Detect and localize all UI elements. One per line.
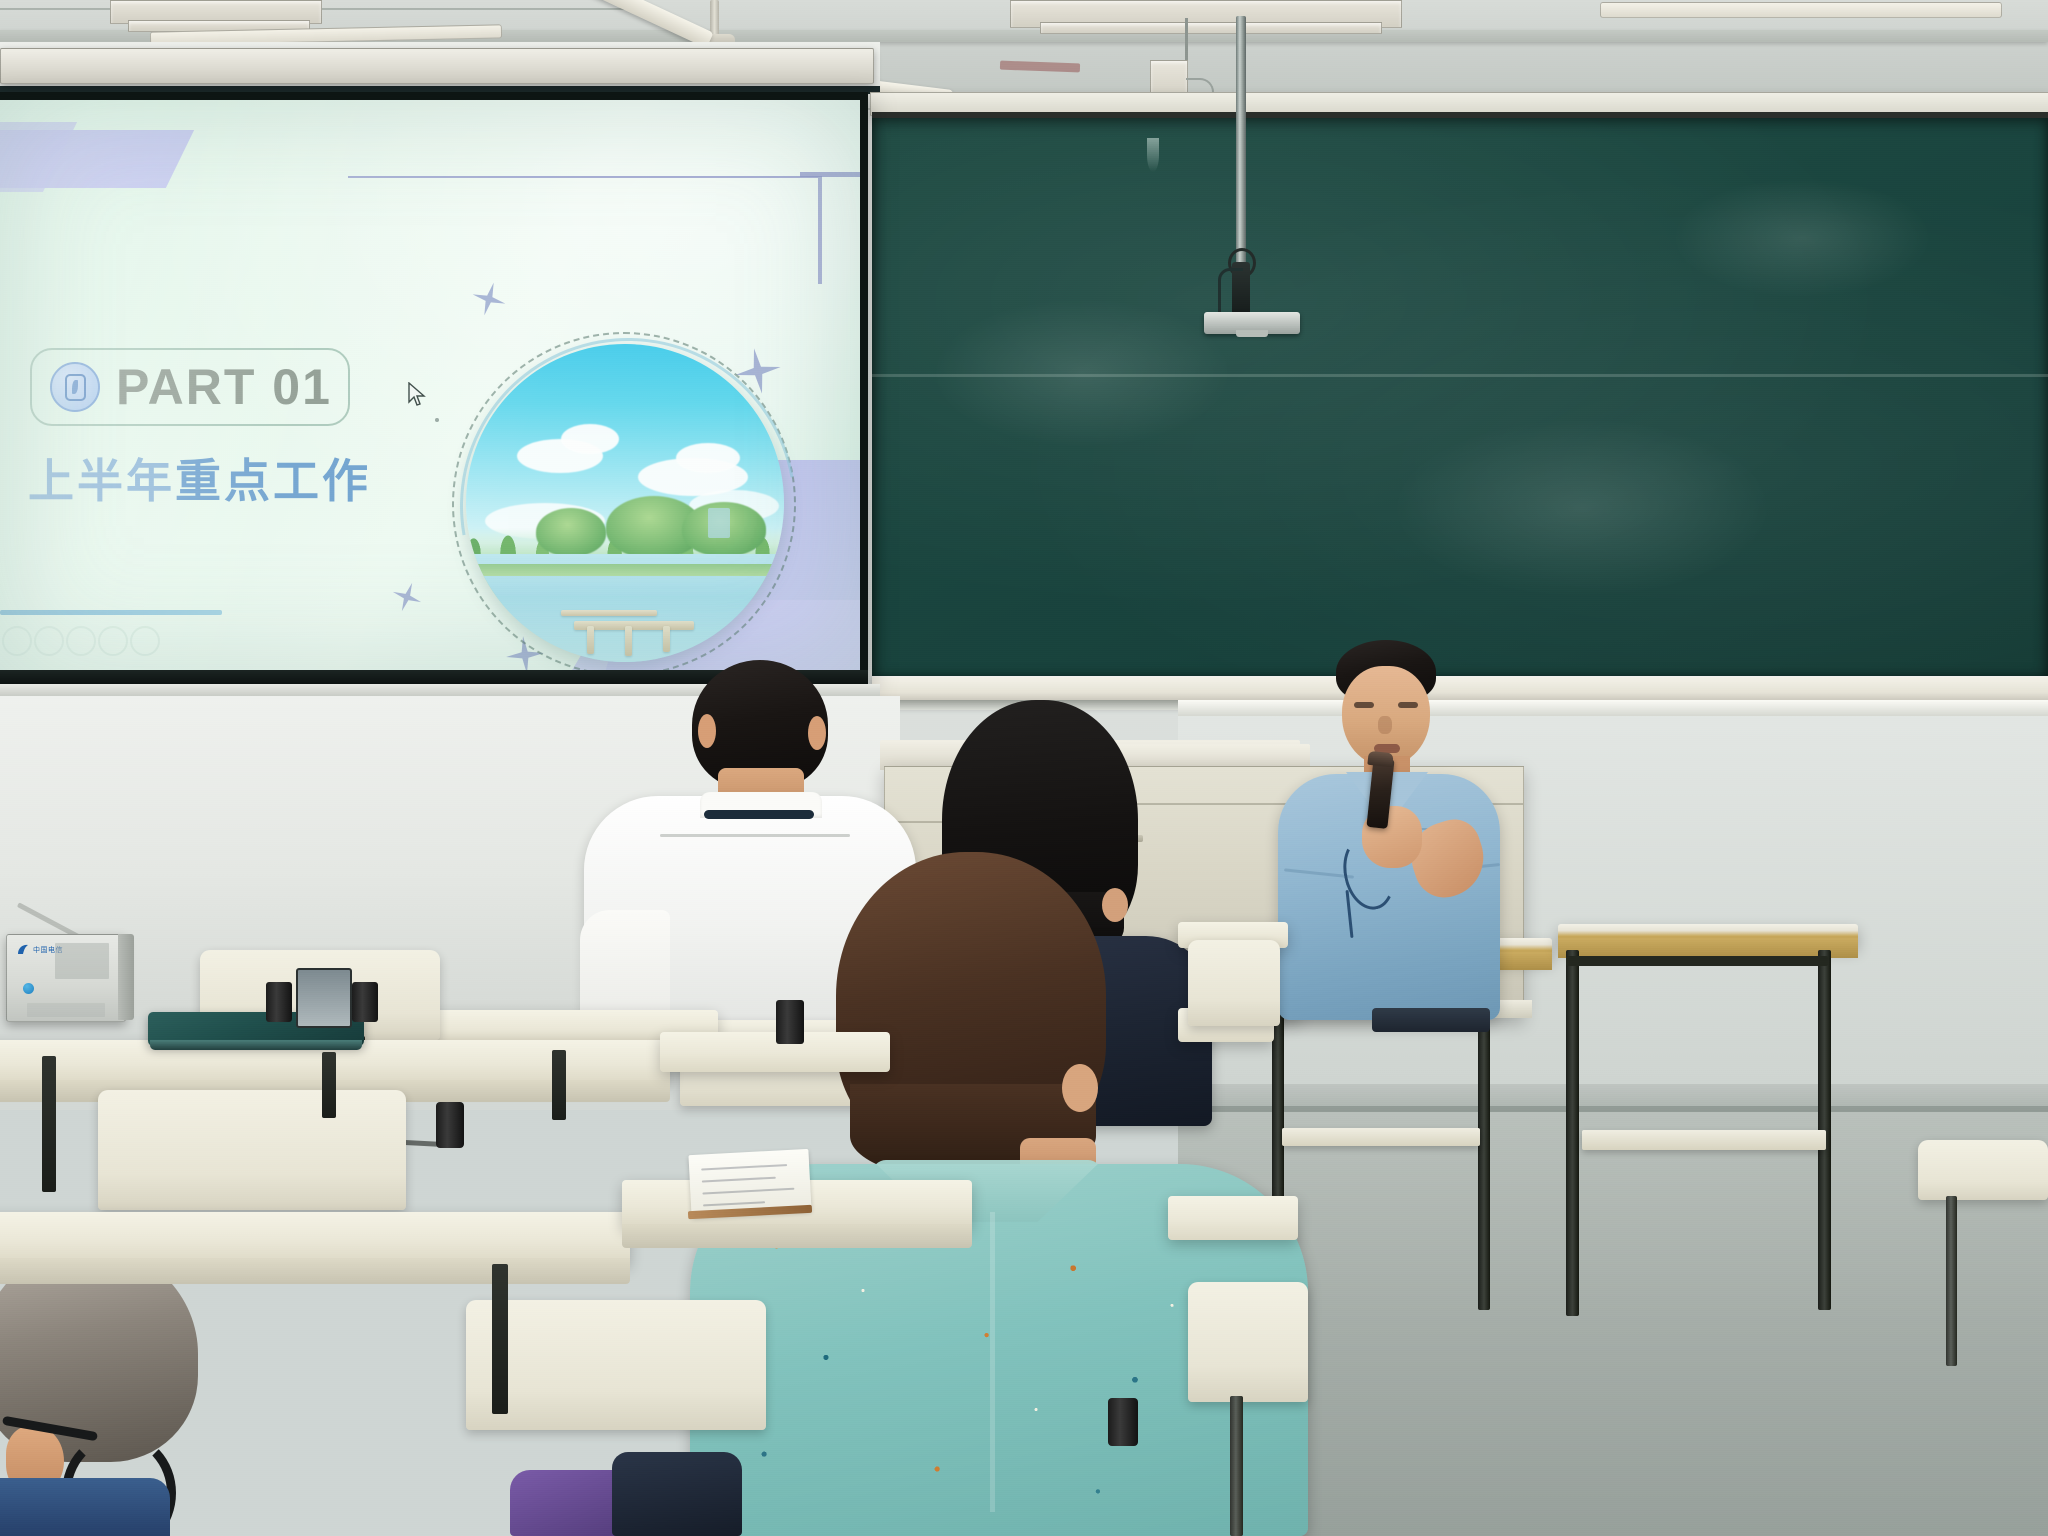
slide-right-rule [818,176,822,284]
chair-leg [1230,1396,1243,1536]
chalk-smudge [1392,418,1772,598]
slide-top-rule [348,176,818,178]
desk-divider-mid [322,1052,336,1118]
attendee-white-yoke-seam [660,834,850,837]
chair-back-row-3-left [98,1090,406,1210]
desk-row-3-right [660,1032,890,1072]
device-label-strip [27,1003,105,1017]
part-pill: PART 01 [30,348,350,426]
hanging-mic-tab [1236,330,1268,337]
ceiling-panel-seam [0,8,660,10]
screen-housing [0,48,874,84]
circle-icon-2 [34,626,64,656]
slide-heading-plain: 上半年 [28,454,175,508]
desk-row-front-center-edge [622,1224,972,1248]
water-bottle-3 [776,1000,804,1044]
desk-divider-left [42,1056,56,1192]
slide-heading-accent: 重点工作 [175,454,371,508]
attendee-floral-seam [990,1212,995,1512]
attendee-white-ear-left [698,714,716,748]
desk-row-front-right [1168,1196,1298,1240]
slide-footer-rule [0,610,222,615]
four-point-star-icon [468,278,510,320]
water-bottle-front [1108,1398,1138,1446]
chalk-smudge [932,298,1232,448]
slide-top-rule-cap [800,172,860,177]
four-point-star-icon [388,578,426,616]
laptop-lid-lip [150,1040,362,1050]
telecom-logo-icon [15,943,31,959]
water-bottle-1 [266,982,292,1022]
device-label-block [55,943,109,979]
circle-icon-5 [130,626,160,656]
attendee-glasses [0,1246,240,1536]
projected-slide: PART 01 上半年重点工作 [0,100,860,670]
presenter-eye-right [1398,702,1418,708]
chair-leg [1946,1196,1957,1366]
device-side-panel [118,934,134,1020]
chalkboard-panel-seam [872,374,2048,377]
chalk-drip [1147,138,1159,172]
desk-divider-front [492,1264,508,1414]
circle-icon-4 [98,626,128,656]
ceiling-vent-lip [1040,22,1382,34]
chair-back-right-row-2 [1188,940,1280,1026]
circle-icon-3 [66,626,96,656]
back-table-leg-left [1566,950,1579,1316]
device-indicator [23,983,34,994]
lanyard [704,810,814,819]
tablet-stand [296,968,352,1028]
ceiling-light-tube [1600,2,2002,18]
back-table-apron [1558,938,1858,958]
slide-heading: 上半年重点工作 [28,445,371,511]
side-table-shelf [1282,1128,1480,1146]
dark-bag [612,1452,742,1536]
presenter-trousers [1372,1008,1490,1032]
chair-back-front-right [1188,1282,1308,1402]
desk-divider-right [552,1050,566,1120]
attendee-white-ear-right [808,716,826,750]
desk-row-front-left [0,1212,630,1264]
chalk-smudge [1672,178,1932,298]
chair-back-row-front [466,1300,766,1430]
attendee-glasses-shoulder [0,1478,170,1536]
part-label: PART 01 [116,362,332,412]
chair-back-far-right [1918,1140,2048,1200]
water-bottle-2 [352,982,378,1022]
leaf-card-icon [50,362,100,412]
desk-row-front-left-edge [0,1258,630,1284]
green-chalkboard [872,118,2048,680]
china-telecom-wall-box: 中国电信 [6,934,126,1022]
circle-icon-1 [2,626,32,656]
mouse-pointer-icon [408,382,428,408]
presenter-eye-left [1354,702,1374,708]
back-table-shelf [1582,1130,1826,1150]
presenter-nose [1378,716,1392,734]
water-bottle-row-3 [436,1102,464,1148]
slide-speck [435,418,439,422]
attendee-floral-ear [1062,1064,1098,1112]
back-table-crossbar [1566,956,1828,966]
classroom-photo: PART 01 上半年重点工作 中国电信 [0,0,2048,1536]
microphone-head [1367,751,1393,768]
